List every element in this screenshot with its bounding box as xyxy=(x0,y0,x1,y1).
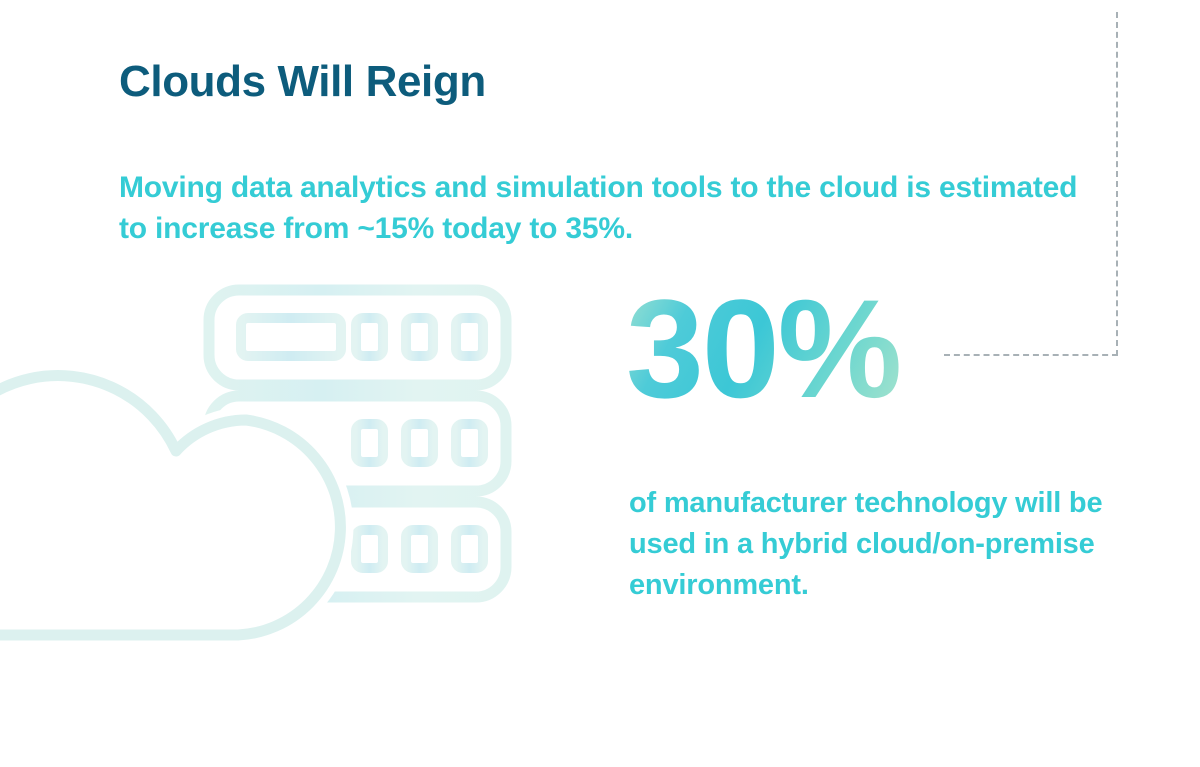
dashed-guide-horizontal xyxy=(944,354,1118,356)
cloud-and-server-rack-illustration xyxy=(0,268,560,668)
server-rack-top xyxy=(209,290,506,385)
dashed-guide-vertical xyxy=(1116,12,1118,356)
stat-caption: of manufacturer technology will be used … xyxy=(629,483,1129,606)
page-title: Clouds Will Reign xyxy=(119,58,486,106)
stat-value: 30% xyxy=(626,279,900,419)
subheadline: Moving data analytics and simulation too… xyxy=(119,167,1099,250)
cloud-icon xyxy=(0,376,340,635)
infographic-canvas: Clouds Will Reign Moving data analytics … xyxy=(0,0,1200,767)
